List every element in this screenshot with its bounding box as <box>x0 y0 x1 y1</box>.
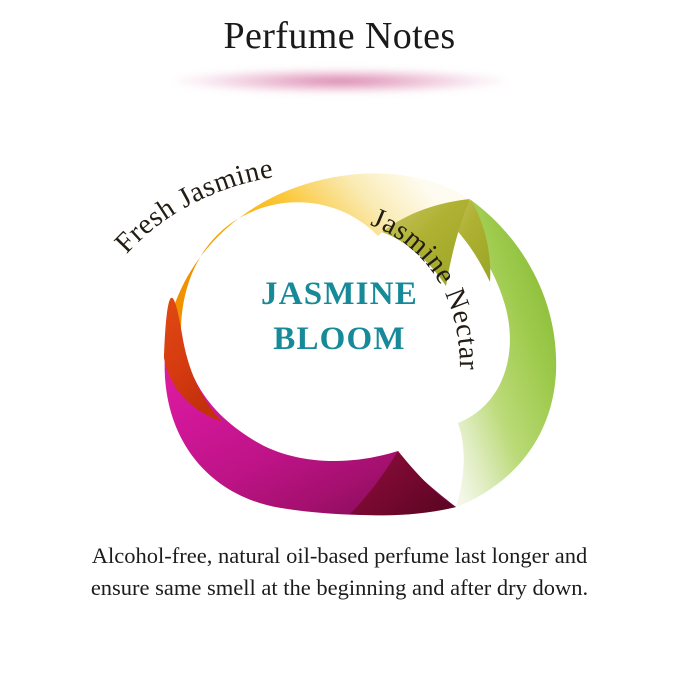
petal-shapes <box>164 173 556 515</box>
caption-block: Alcohol-free, natural oil-based perfume … <box>0 540 679 604</box>
title-glow-decoration <box>175 68 505 94</box>
caption-line-1: Alcohol-free, natural oil-based perfume … <box>14 540 665 572</box>
petal-label-fresh-jasmine: Fresh Jasmine <box>109 153 276 259</box>
title-block: Perfume Notes <box>0 0 679 95</box>
caption-line-2: ensure same smell at the beginning and a… <box>14 572 665 604</box>
pinwheel-svg: Fresh Jasmine Jasmine Nectar White Flowe… <box>0 96 679 520</box>
page-title: Perfume Notes <box>0 16 679 58</box>
perfume-notes-diagram: Fresh Jasmine Jasmine Nectar White Flowe… <box>0 96 679 520</box>
